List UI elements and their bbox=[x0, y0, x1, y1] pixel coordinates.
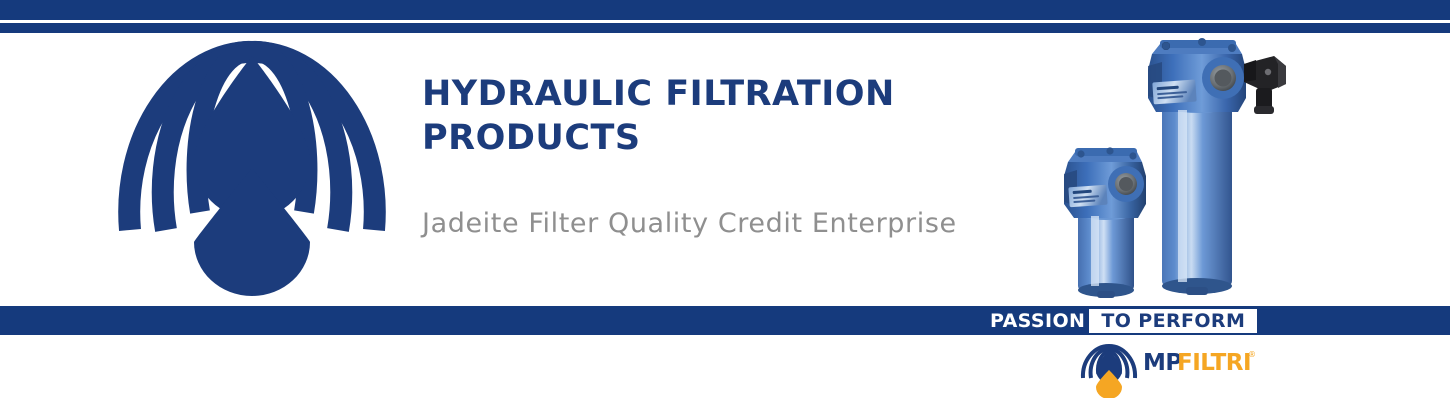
slogan-passion: PASSION bbox=[990, 309, 1089, 333]
subheadline-text: Jadeite Filter Quality Credit Enterprise bbox=[422, 208, 957, 239]
registered-mark: ® bbox=[1248, 350, 1256, 359]
slogan-strip: PASSION TO PERFORM bbox=[990, 309, 1257, 333]
mp-filtri-brand-lockup: MP FILTRI ® bbox=[1077, 340, 1262, 398]
water-droplet-waves-logo bbox=[118, 40, 386, 298]
product-image-group bbox=[1060, 26, 1300, 308]
electrical-connector bbox=[1244, 56, 1286, 114]
hydraulic-filtration-banner: HYDRAULIC FILTRATION PRODUCTS Jadeite Fi… bbox=[0, 0, 1450, 400]
slogan-to-perform: TO PERFORM bbox=[1089, 309, 1257, 333]
brand-name-primary: MP bbox=[1143, 350, 1182, 376]
large-inline-filter-with-connector bbox=[1148, 38, 1286, 295]
small-inline-filter bbox=[1064, 147, 1146, 298]
brand-name-secondary: FILTRI bbox=[1177, 350, 1251, 376]
headline-block: HYDRAULIC FILTRATION PRODUCTS bbox=[422, 72, 1042, 160]
mp-filtri-droplet-waves-icon bbox=[1083, 346, 1135, 398]
headline-text: HYDRAULIC FILTRATION PRODUCTS bbox=[422, 72, 1042, 160]
top-rule-thick bbox=[0, 0, 1450, 20]
